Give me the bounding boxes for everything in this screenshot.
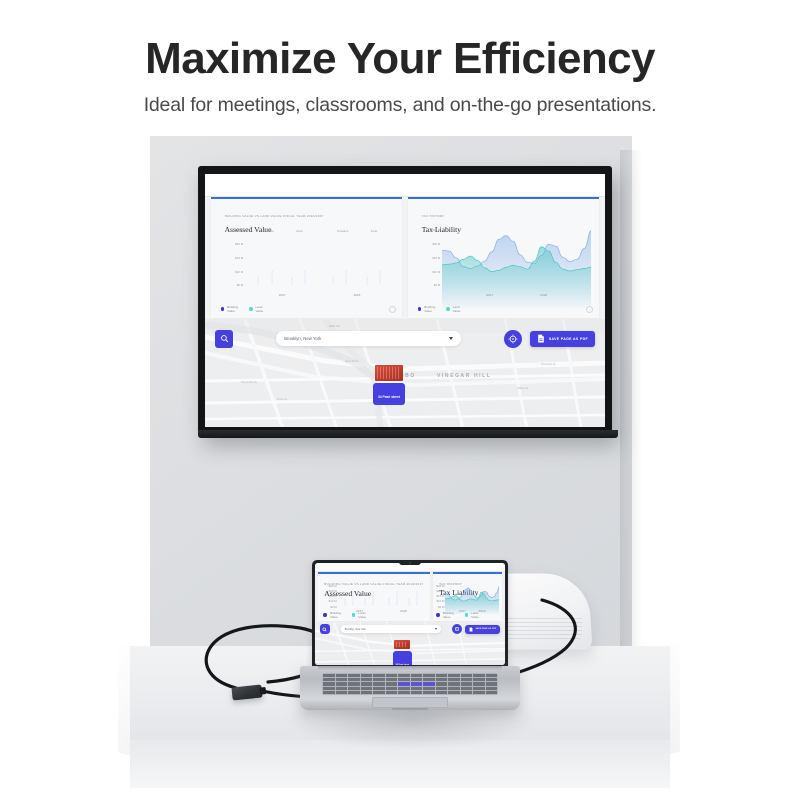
laptop-hinge <box>318 666 502 670</box>
keyboard-key[interactable] <box>448 678 460 681</box>
keyboard-key[interactable] <box>461 674 473 677</box>
dashboard-cards: BUILDING VALUE VS LAND VALUE FISCAL YEAR… <box>211 197 599 318</box>
keyboard-key[interactable] <box>473 674 485 677</box>
keyboard-key[interactable] <box>361 678 373 681</box>
card-eyebrow: BUILDING VALUE VS LAND VALUE FISCAL YEAR… <box>324 582 423 586</box>
legend-item-building-value: Building Value <box>436 611 460 619</box>
laptop-computer: BUILDING VALUE VS LAND VALUE FISCAL YEAR… <box>300 560 520 740</box>
legend-label: Building Value <box>227 305 245 313</box>
bar-value-label: Transitional <box>271 270 274 285</box>
keyboard-key[interactable] <box>411 678 423 681</box>
headline-block: Maximize Your Efficiency Ideal for meeti… <box>0 0 800 136</box>
keyboard-key[interactable] <box>436 687 448 690</box>
chevron-down-icon[interactable] <box>449 337 453 340</box>
area-chart-yaxis: $25 M $20 M $15 M $10 M $0 M <box>435 586 444 609</box>
legend-item-land-value: Land Value <box>446 305 467 313</box>
keyboard-key[interactable] <box>373 691 385 694</box>
keyboard-key[interactable] <box>336 691 348 694</box>
keyboard-key[interactable] <box>386 678 398 681</box>
map-street-label: Water St <box>517 386 528 390</box>
keyboard-key[interactable] <box>361 687 373 690</box>
card-eyebrow: TAX HISTORY <box>422 214 586 218</box>
y-tick: $10 M <box>219 271 244 274</box>
legend-item-land-value: Land Value <box>249 305 270 313</box>
x-tick: 2018 <box>400 609 407 613</box>
keyboard-key[interactable] <box>348 691 360 694</box>
target-icon <box>508 334 518 344</box>
keyboard-key[interactable] <box>348 674 360 677</box>
camera-icon <box>409 562 411 564</box>
map-toolbar: Brooklyn, New York <box>315 624 505 635</box>
map-street-label: Marshall St <box>541 362 555 366</box>
page-title: Maximize Your Efficiency <box>0 36 800 82</box>
area-chart-plot: $25 M $20 M $15 M $10 M $0 M 2017 20 <box>416 230 592 298</box>
y-tick: $15 M <box>435 595 444 598</box>
chart-legend: Building Value Land Value <box>418 305 467 313</box>
map-panel[interactable]: DUMBO VINEGAR HILL EDR UF East River Ply… <box>205 319 605 427</box>
keyboard-key[interactable] <box>436 678 448 681</box>
subgroup-labels: Tentative Final Tentative Final <box>245 229 394 233</box>
keyboard-key[interactable] <box>448 687 460 690</box>
y-tick: $0 M <box>435 606 444 609</box>
keyboard-row <box>323 687 497 690</box>
card-eyebrow: TAX HISTORY <box>439 582 496 586</box>
bar-value-label: Actual <box>388 598 391 606</box>
legend-label: Building Value <box>330 611 348 619</box>
keyboard-key[interactable] <box>423 682 435 685</box>
keyboard-key[interactable] <box>323 687 335 690</box>
webcam-notch <box>399 560 421 565</box>
bar-value-label: Transitional <box>416 591 419 606</box>
keyboard-key[interactable] <box>398 687 410 690</box>
keyboard-key[interactable] <box>336 674 348 677</box>
tv-screen: BUILDING VALUE VS LAND VALUE FISCAL YEAR… <box>205 174 605 427</box>
keyboard-row <box>323 674 497 677</box>
card-tax-liability: TAX HISTORY Tax Liability $25 M $20 M $1… <box>408 197 599 318</box>
keyboard-key[interactable] <box>486 691 498 694</box>
bar-chart-yaxis: $25 M $20 M $15 M $10 M $0 M <box>322 586 336 609</box>
keyboard-key[interactable] <box>373 687 385 690</box>
keyboard-key[interactable] <box>461 687 473 690</box>
keyboard-key[interactable] <box>486 687 498 690</box>
y-tick: $0 M <box>219 284 244 287</box>
adapter-port <box>260 687 267 695</box>
card-tax-liability: TAX HISTORY Tax Liability $25 M $20 M $1… <box>433 572 502 621</box>
keyboard-key[interactable] <box>398 674 410 677</box>
keyboard-key[interactable] <box>461 682 473 685</box>
keyboard-key[interactable] <box>486 682 498 685</box>
save-page-as-pdf-button[interactable]: SAVE PAGE AS PDF <box>530 331 595 347</box>
y-tick: $10 M <box>435 600 444 603</box>
keyboard-key[interactable] <box>398 678 410 681</box>
legend-dot-icon <box>249 307 253 311</box>
keyboard-key[interactable] <box>473 691 485 694</box>
chart-legend: Building Value Land Value <box>323 611 372 619</box>
bar-chart-plot: $25 M $20 M $15 M $10 M $0 M Tentative <box>219 230 395 298</box>
y-tick: $25 M <box>219 229 244 232</box>
legend-label: Land Value <box>358 611 372 619</box>
building-icon <box>375 365 403 381</box>
card-info-icon[interactable] <box>389 306 396 313</box>
keyboard-key[interactable] <box>436 674 448 677</box>
subgroup-label: Final <box>371 229 377 233</box>
bar-value-label: Actual <box>408 598 411 606</box>
keyboard-row <box>323 691 497 694</box>
pdf-button-label: SAVE PAGE AS PDF <box>549 337 588 341</box>
location-search-input[interactable]: Brooklyn, New York <box>341 625 441 633</box>
wall-shadow <box>620 150 642 656</box>
chevron-down-icon[interactable] <box>435 628 437 630</box>
marker-address-label: 34 Pearl street <box>396 664 410 665</box>
target-icon <box>454 626 460 632</box>
chart-legend: Building Value Land Value <box>221 305 270 313</box>
legend-dot-icon <box>323 613 327 617</box>
legend-label: Building Value <box>443 611 461 619</box>
y-tick: $25 M <box>435 585 444 588</box>
bar-value-label: Transitional <box>379 270 382 285</box>
keyboard-key[interactable] <box>461 678 473 681</box>
keyboard-key[interactable] <box>473 687 485 690</box>
card-assessed-value: BUILDING VALUE VS LAND VALUE FISCAL YEAR… <box>211 197 402 318</box>
y-tick: $25 M <box>416 229 441 232</box>
laptop-screen: BUILDING VALUE VS LAND VALUE FISCAL YEAR… <box>315 563 505 665</box>
area-chart-xaxis: 2017 2018 <box>442 293 591 297</box>
legend-dot-icon <box>436 613 440 617</box>
search-button[interactable] <box>320 624 330 634</box>
keyboard-key[interactable] <box>423 687 435 690</box>
keyboard-key[interactable] <box>323 691 335 694</box>
y-tick: $0 M <box>416 284 441 287</box>
location-search-input[interactable]: Brooklyn, New York <box>276 331 461 346</box>
y-tick: $20 M <box>416 243 441 246</box>
area-plot-area: 2017 2018 <box>442 230 591 298</box>
keyboard-key[interactable] <box>386 674 398 677</box>
card-assessed-value: BUILDING VALUE VS LAND VALUE FISCAL YEAR… <box>318 572 430 621</box>
keyboard-key[interactable] <box>373 674 385 677</box>
y-tick: $15 M <box>416 257 441 260</box>
dashboard-topbar <box>205 174 605 197</box>
keyboard-key[interactable] <box>448 691 460 694</box>
keyboard-key[interactable] <box>348 682 360 685</box>
keyboard-key[interactable] <box>448 674 460 677</box>
map-street-label: East River <box>345 359 358 363</box>
x-tick: 2017 <box>486 293 493 297</box>
legend-dot-icon <box>352 613 356 617</box>
tv-bottom-bezel <box>198 430 618 438</box>
y-tick: $15 M <box>322 595 336 598</box>
legend-dot-icon <box>465 613 469 617</box>
bar-value-label: Transitional <box>345 270 348 285</box>
keyboard-row <box>323 682 497 685</box>
x-tick: 2018 <box>354 293 361 297</box>
bar-plot-area: Tentative Final Tentative Final ActualTr… <box>245 230 394 298</box>
search-icon <box>322 627 327 632</box>
dashboard-laptop: BUILDING VALUE VS LAND VALUE FISCAL YEAR… <box>315 563 505 665</box>
marker-address-label: 34 Pearl street <box>378 395 400 399</box>
laptop-keyboard[interactable] <box>322 673 498 695</box>
bar-chart-plot: $25 M $20 M $15 M $10 M $0 M ActualTrans… <box>322 586 425 613</box>
pdf-file-icon <box>537 334 545 343</box>
subgroup-label: Final <box>296 229 302 233</box>
map-panel[interactable]: 34 Pearl street Brooklyn, <box>315 622 505 665</box>
card-info-icon[interactable] <box>586 306 593 313</box>
keyboard-key[interactable] <box>398 682 410 685</box>
legend-item-building-value: Building Value <box>221 305 245 313</box>
keyboard-key[interactable] <box>386 687 398 690</box>
pdf-file-icon <box>469 627 473 632</box>
keyboard-key[interactable] <box>361 691 373 694</box>
keyboard-key[interactable] <box>323 678 335 681</box>
bar-value-label: Transitional <box>396 591 399 606</box>
legend-label: Building Value <box>424 305 442 313</box>
legend-item-land-value: Land Value <box>352 611 373 619</box>
bar-value-label: Transitional <box>352 591 355 606</box>
y-tick: $25 M <box>322 585 336 588</box>
y-tick: $20 M <box>219 243 244 246</box>
bar-value-label: Actual <box>291 277 294 285</box>
keyboard-key[interactable] <box>473 678 485 681</box>
keyboard-key[interactable] <box>411 682 423 685</box>
laptop-base <box>300 666 520 710</box>
legend-dot-icon <box>446 307 450 311</box>
dashboard-cards: BUILDING VALUE VS LAND VALUE FISCAL YEAR… <box>318 572 502 621</box>
area-chart-yaxis: $25 M $20 M $15 M $10 M $0 M <box>416 230 441 289</box>
bar-value-label: Actual <box>364 598 367 606</box>
search-button[interactable] <box>215 330 233 348</box>
area-plot-area: 2017 2018 <box>445 586 499 613</box>
keyboard-key[interactable] <box>423 691 435 694</box>
dashboard-tv: BUILDING VALUE VS LAND VALUE FISCAL YEAR… <box>205 174 605 427</box>
wall-mounted-display: BUILDING VALUE VS LAND VALUE FISCAL YEAR… <box>198 166 612 436</box>
keyboard-key[interactable] <box>373 682 385 685</box>
legend-dot-icon <box>221 307 225 311</box>
subgroup-label: Tentative <box>337 229 349 233</box>
map-marker[interactable]: 34 Pearl street <box>375 640 429 665</box>
keyboard-key[interactable] <box>361 674 373 677</box>
search-input-value: Brooklyn, New York <box>345 628 435 631</box>
map-street-label: Front St <box>277 397 287 401</box>
locate-button[interactable] <box>504 330 522 348</box>
marker-address-pill[interactable]: 34 Pearl street <box>373 383 405 405</box>
chart-legend: Building Value Land Value <box>436 611 485 619</box>
bar-value-label: Actual <box>366 277 369 285</box>
keyboard-key[interactable] <box>411 691 423 694</box>
keyboard-key[interactable] <box>436 682 448 685</box>
y-tick: $20 M <box>435 590 444 593</box>
locate-button[interactable] <box>452 624 462 634</box>
search-icon <box>220 334 229 343</box>
keyboard-key[interactable] <box>386 691 398 694</box>
x-tick: 2018 <box>540 293 547 297</box>
x-tick: 2017 <box>279 293 286 297</box>
y-tick: $10 M <box>416 271 441 274</box>
keyboard-key[interactable] <box>336 687 348 690</box>
legend-item-building-value: Building Value <box>323 611 347 619</box>
y-tick: $20 M <box>322 590 336 593</box>
bar-chart-yaxis: $25 M $20 M $15 M $10 M $0 M <box>219 230 244 289</box>
y-tick: $10 M <box>322 600 336 603</box>
bar-plot-area: ActualTransitionalActualTransitionalActu… <box>338 586 426 613</box>
keyboard-key[interactable] <box>486 674 498 677</box>
map-area-label-vinegar-hill: VINEGAR HILL <box>437 373 491 379</box>
legend-item-land-value: Land Value <box>465 611 486 619</box>
keyboard-key[interactable] <box>486 678 498 681</box>
map-toolbar: Brooklyn, New York <box>205 325 605 353</box>
laptop-lip <box>392 708 428 710</box>
bar-chart-xaxis: 2017 2018 <box>245 293 394 297</box>
bar-groups: ActualTransitionalActualTransitionalActu… <box>338 588 426 609</box>
keyboard-key[interactable] <box>448 682 460 685</box>
pdf-button-label: SAVE PAGE AS PDF <box>475 628 496 630</box>
marker-address-pill[interactable]: 34 Pearl street <box>393 651 413 665</box>
y-tick: $0 M <box>322 606 336 609</box>
laptop-lid: BUILDING VALUE VS LAND VALUE FISCAL YEAR… <box>312 560 508 668</box>
legend-dot-icon <box>418 307 422 311</box>
bar-value-label: Actual <box>257 277 260 285</box>
legend-label: Land Value <box>256 305 270 313</box>
keyboard-key[interactable] <box>373 678 385 681</box>
legend-label: Land Value <box>453 305 467 313</box>
search-input-value: Brooklyn, New York <box>284 336 449 341</box>
keyboard-key[interactable] <box>461 691 473 694</box>
laptop-trackpad[interactable] <box>372 697 448 708</box>
keyboard-key[interactable] <box>411 687 423 690</box>
keyboard-key[interactable] <box>386 682 398 685</box>
keyboard-key[interactable] <box>411 674 423 677</box>
keyboard-key[interactable] <box>423 674 435 677</box>
area-chart-plot: $25 M $20 M $15 M $10 M $0 M 2017 <box>435 586 499 613</box>
bar-value-label: Actual <box>344 598 347 606</box>
keyboard-key[interactable] <box>336 682 348 685</box>
keyboard-key[interactable] <box>473 682 485 685</box>
y-tick: $15 M <box>219 257 244 260</box>
save-page-as-pdf-button[interactable]: SAVE PAGE AS PDF <box>465 625 500 634</box>
bar-value-label: Actual <box>332 277 335 285</box>
keyboard-key[interactable] <box>348 687 360 690</box>
keyboard-key[interactable] <box>436 691 448 694</box>
keyboard-key[interactable] <box>336 678 348 681</box>
map-marker[interactable]: 34 Pearl street <box>362 365 416 405</box>
building-icon <box>394 640 410 649</box>
keyboard-row <box>323 678 497 681</box>
legend-item-building-value: Building Value <box>418 305 442 313</box>
keyboard-key[interactable] <box>398 691 410 694</box>
legend-label: Land Value <box>471 611 485 619</box>
keyboard-key[interactable] <box>361 682 373 685</box>
card-eyebrow: BUILDING VALUE VS LAND VALUE FISCAL YEAR… <box>225 214 389 218</box>
keyboard-key[interactable] <box>423 678 435 681</box>
page-subtitle: Ideal for meetings, classrooms, and on-t… <box>0 94 800 117</box>
subgroup-label: Tentative <box>262 229 274 233</box>
bar-value-label: Transitional <box>372 591 375 606</box>
bar-groups: ActualTransitionalActualTransitionalActu… <box>245 234 394 288</box>
keyboard-key[interactable] <box>348 678 360 681</box>
keyboard-key[interactable] <box>323 682 335 685</box>
map-street-label: Plymouth St <box>241 380 257 384</box>
bar-value-label: Transitional <box>304 270 307 285</box>
keyboard-key[interactable] <box>323 674 335 677</box>
